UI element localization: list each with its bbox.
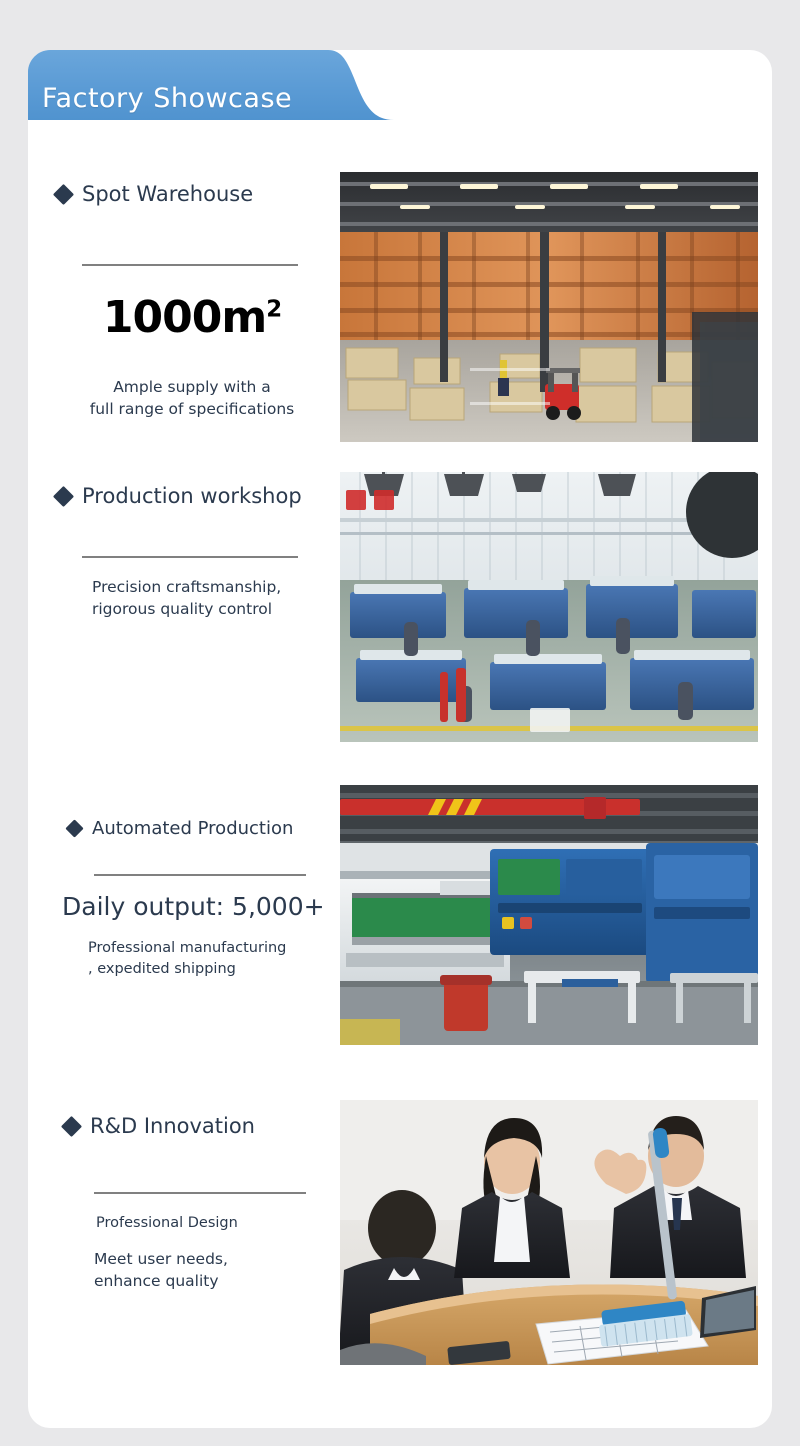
diamond-bullet-icon — [53, 485, 74, 506]
block-3-description-line-1: Professional manufacturing — [88, 938, 332, 959]
block-4-heading-row: R&D Innovation — [64, 1114, 334, 1138]
block-2-text-column: Production workshop — [56, 484, 326, 508]
diamond-bullet-icon — [65, 819, 83, 837]
block-3-heading: Automated Production — [92, 818, 293, 839]
block-1-heading-row: Spot Warehouse — [56, 182, 316, 206]
diamond-bullet-icon — [53, 183, 74, 204]
block-1-divider — [82, 264, 298, 266]
block-2-heading-row: Production workshop — [56, 484, 326, 508]
red-bin — [440, 975, 492, 1031]
block-4-text-column: R&D Innovation — [64, 1114, 334, 1138]
block-1-description: Ample supply with a full range of specif… — [56, 376, 328, 421]
block-4-subtitle: Professional Design — [96, 1213, 332, 1234]
rd-innovation-meeting-photo — [340, 1100, 758, 1365]
block-2-heading: Production workshop — [82, 484, 302, 508]
block-2-description-line-1: Precision craftsmanship, — [92, 576, 322, 598]
block-1-metric-value: 1000m — [103, 292, 266, 343]
diamond-bullet-icon — [61, 1115, 82, 1136]
block-3-description: Professional manufacturing , expedited s… — [88, 938, 332, 980]
warehouse-photo — [340, 172, 758, 442]
block-3-metric-value: Daily output: 5,000+ — [62, 892, 325, 921]
block-1-text-column: Spot Warehouse — [56, 182, 316, 206]
block-1-metric: 1000m2 — [56, 296, 328, 340]
block-4-heading: R&D Innovation — [90, 1114, 255, 1138]
factory-showcase-page: Factory Showcase Spot Warehouse 1000m2 A… — [0, 0, 800, 1446]
block-3-metric: Daily output: 5,000+ — [62, 893, 324, 921]
block-1-heading: Spot Warehouse — [82, 182, 253, 206]
automated-production-photo — [340, 785, 758, 1045]
block-1-description-line-1: Ample supply with a — [56, 376, 328, 398]
block-3-heading-row: Automated Production — [68, 818, 338, 839]
block-4-divider — [94, 1192, 306, 1194]
page-title: Factory Showcase — [42, 50, 382, 146]
production-workshop-photo — [340, 472, 758, 742]
block-2-divider — [82, 556, 298, 558]
block-3-divider — [94, 874, 306, 876]
block-4-description-line-1: Meet user needs, — [94, 1248, 334, 1270]
block-2-description: Precision craftsmanship, rigorous qualit… — [92, 576, 322, 621]
block-3-text-column: Automated Production — [68, 818, 338, 839]
block-4-description: Meet user needs, enhance quality — [94, 1248, 334, 1293]
block-1-metric-sup: 2 — [266, 296, 281, 322]
block-4-metric-value: Professional Design — [96, 1215, 238, 1231]
block-3-description-line-2: , expedited shipping — [88, 959, 332, 980]
block-4-description-line-2: enhance quality — [94, 1270, 334, 1292]
block-1-description-line-2: full range of specifications — [56, 398, 328, 420]
block-2-description-line-2: rigorous quality control — [92, 598, 322, 620]
